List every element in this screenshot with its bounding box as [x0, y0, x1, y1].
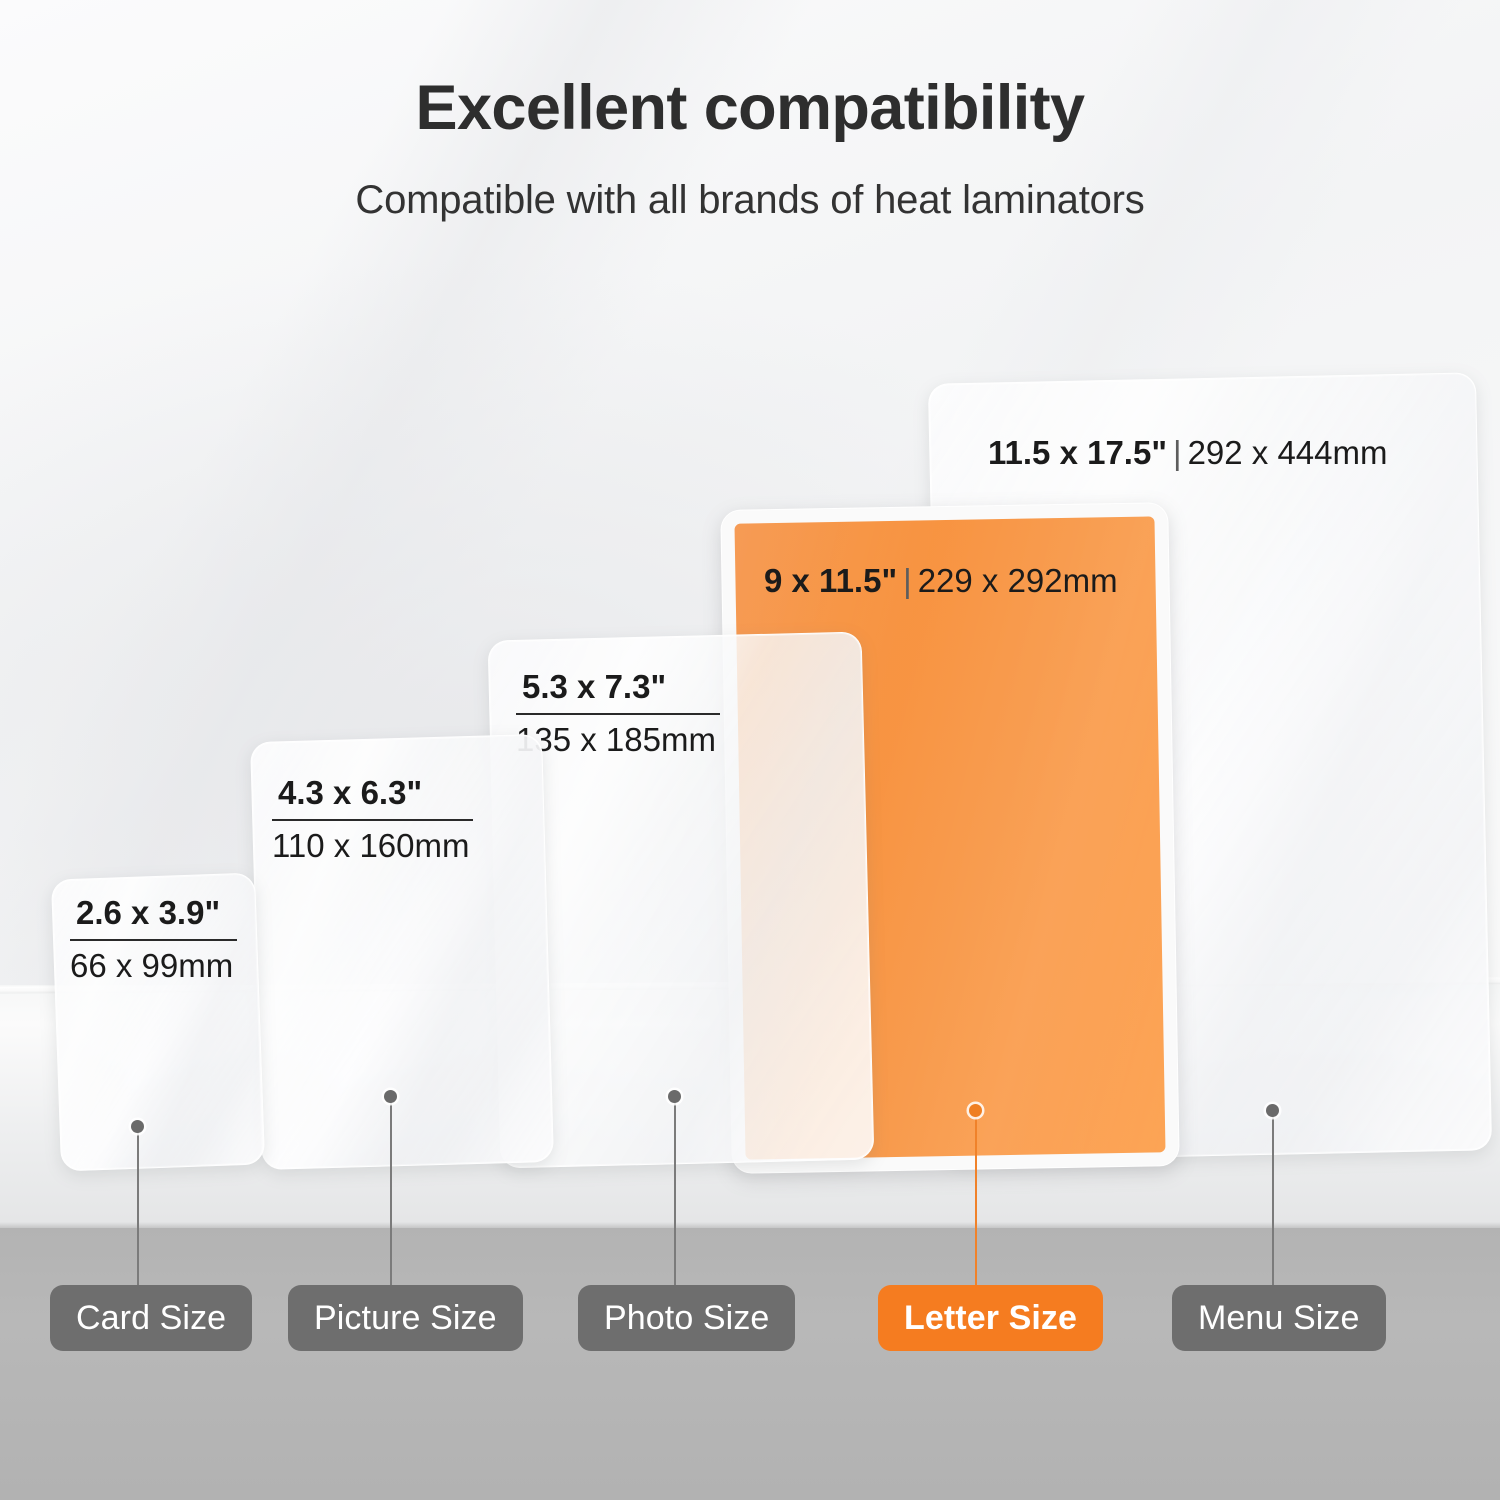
leader-line-picture: [390, 1096, 392, 1286]
size-label-photo-metric: 135 x 185mm: [516, 721, 720, 759]
size-label-card: 2.6 x 3.9" 66 x 99mm: [70, 894, 237, 985]
pill-letter-size[interactable]: Letter Size: [878, 1285, 1103, 1351]
size-label-menu-imperial: 11.5 x 17.5": [988, 434, 1167, 471]
pill-photo-size[interactable]: Photo Size: [578, 1285, 795, 1351]
infographic-scene: Excellent compatibility Compatible with …: [0, 0, 1500, 1500]
size-label-card-rule: [70, 939, 237, 941]
size-label-letter-metric: 229 x 292mm: [918, 562, 1118, 599]
page-title: Excellent compatibility: [0, 72, 1500, 144]
size-label-picture-rule: [272, 819, 473, 821]
leader-line-card: [137, 1126, 139, 1286]
pill-picture-size[interactable]: Picture Size: [288, 1285, 523, 1351]
leader-line-menu: [1272, 1110, 1274, 1286]
size-label-letter: 9 x 11.5"|229 x 292mm: [764, 562, 1118, 600]
leader-line-photo: [674, 1096, 676, 1286]
size-label-card-metric: 66 x 99mm: [70, 947, 237, 985]
size-label-photo-imperial: 5.3 x 7.3": [516, 668, 720, 706]
size-label-picture-metric: 110 x 160mm: [272, 827, 473, 865]
size-label-picture-imperial: 4.3 x 6.3": [272, 774, 473, 812]
size-label-menu: 11.5 x 17.5"|292 x 444mm: [988, 434, 1388, 472]
size-label-letter-separator: |: [897, 562, 918, 599]
leader-dot-card: [131, 1120, 144, 1133]
pill-card-size[interactable]: Card Size: [50, 1285, 252, 1351]
size-label-photo-rule: [516, 713, 720, 715]
size-label-letter-imperial: 9 x 11.5": [764, 562, 897, 599]
leader-line-letter: [975, 1110, 977, 1286]
size-label-photo: 5.3 x 7.3" 135 x 185mm: [516, 668, 720, 759]
pill-menu-size[interactable]: Menu Size: [1172, 1285, 1386, 1351]
size-label-menu-metric: 292 x 444mm: [1188, 434, 1388, 471]
leader-dot-photo: [668, 1090, 681, 1103]
size-label-card-imperial: 2.6 x 3.9": [70, 894, 237, 932]
background-foreground-band: [0, 1228, 1500, 1500]
leader-dot-menu: [1266, 1104, 1279, 1117]
leader-dot-letter: [969, 1104, 982, 1117]
size-label-menu-separator: |: [1167, 434, 1188, 471]
leader-dot-picture: [384, 1090, 397, 1103]
page-subtitle: Compatible with all brands of heat lamin…: [0, 178, 1500, 223]
size-label-picture: 4.3 x 6.3" 110 x 160mm: [272, 774, 473, 865]
